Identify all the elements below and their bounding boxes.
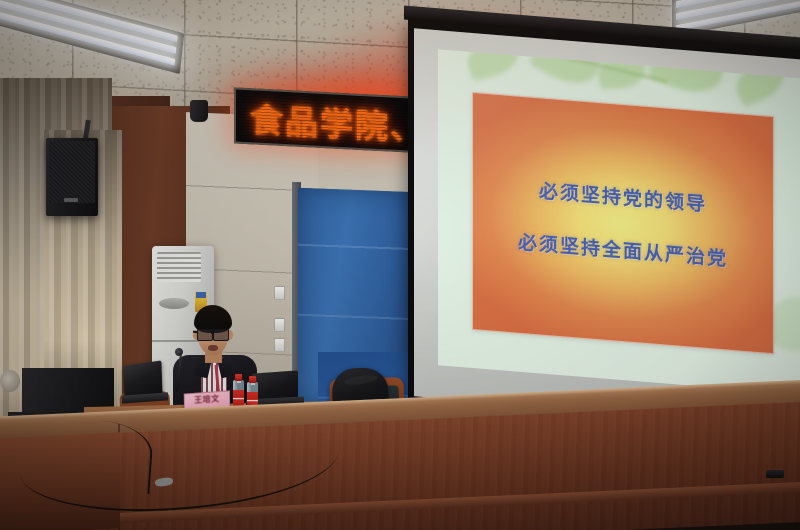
wall-switch[interactable] (274, 286, 285, 300)
name-placard-text: 王培文 (187, 394, 227, 406)
led-sign-text: 食品学院、 (250, 93, 425, 150)
slide-content-box: 必须坚持党的领导 必须坚持全面从严治党 (472, 92, 774, 354)
bottle-cap (235, 374, 242, 381)
ceiling-speaker (190, 100, 208, 122)
wall-outlet[interactable] (274, 338, 285, 352)
wall-switch[interactable] (274, 318, 285, 332)
microphone-right-base (766, 470, 784, 478)
glasses-lens-left (197, 329, 213, 341)
slide-text-line-1: 必须坚持党的领导 (539, 176, 707, 217)
glasses-bridge (211, 332, 214, 334)
speaker-badge (64, 198, 78, 202)
bottle-cap (249, 376, 256, 383)
microphone-left[interactable] (175, 348, 183, 356)
lecture-hall-photo: 食品学院、 必须坚持党的领导 必须坚持全面从严治党 (0, 0, 800, 530)
speaker-grille (49, 141, 95, 203)
slide-text-line-2: 必须坚持全面从严治党 (518, 228, 728, 272)
projected-slide: 必须坚持党的领导 必须坚持全面从严治党 (438, 49, 800, 395)
presenter-mouth (208, 345, 218, 351)
energy-label-header (196, 292, 206, 298)
air-conditioner-vent (157, 252, 201, 282)
glasses-lens-right (213, 329, 229, 341)
mic-boom-left (0, 370, 20, 392)
